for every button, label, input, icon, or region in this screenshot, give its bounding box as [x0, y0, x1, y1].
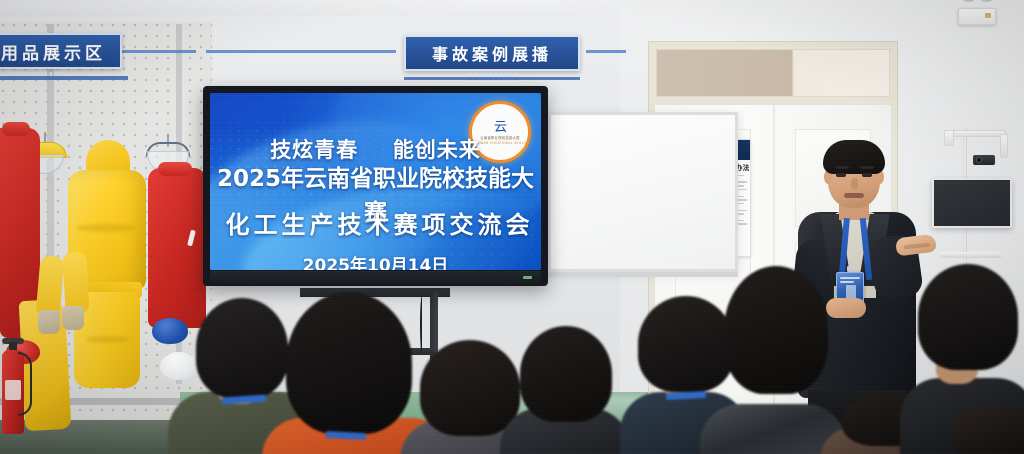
attendee-4-hair	[520, 326, 612, 422]
tv-power-cable	[420, 296, 424, 354]
presenter-nose	[851, 178, 858, 189]
attendee-6-hair	[724, 266, 828, 394]
sign-right-connector-l	[206, 50, 396, 53]
sign-left-connector	[110, 50, 196, 53]
sign-left-underline	[0, 76, 128, 80]
hazmat-boot-left	[38, 310, 60, 334]
hazmat-crease-2	[86, 336, 130, 343]
suit-collar	[2, 122, 30, 136]
slide-date: 2025年10月14日	[210, 251, 541, 270]
monitor-arm-lower	[1000, 134, 1008, 158]
presenter-hand-holding-badge	[826, 298, 866, 318]
attendee-1-hair	[196, 298, 288, 398]
wall-monitor[interactable]	[932, 178, 1012, 228]
emblem-glyph: 云	[494, 120, 506, 133]
presenter-eye-right	[862, 173, 872, 177]
display-bottom-bezel	[210, 271, 541, 284]
tv-cart-crossbar-top	[300, 288, 450, 297]
white-hard-hat	[160, 352, 198, 380]
sign-right-connector-r	[586, 50, 626, 53]
whiteboard-tray	[548, 272, 738, 277]
hazmat-crease	[76, 224, 138, 232]
sign-left-text: 护用品展示区	[0, 39, 106, 64]
slide-event-title: 化工生产技术赛项交流会	[210, 205, 541, 240]
display-power-led	[523, 276, 532, 279]
wall-camera	[973, 155, 995, 165]
emergency-exit-light	[958, 8, 996, 25]
monitor-shelf	[940, 252, 1002, 258]
fire-extinguisher	[0, 338, 26, 434]
sign-right-text: 事故案例展播	[432, 41, 552, 65]
display-screen: 云 云南省职业院校技能大赛 YUNNAN VOCATIONAL SKILLS 技…	[210, 93, 541, 270]
interactive-display-panel[interactable]: 云 云南省职业院校技能大赛 YUNNAN VOCATIONAL SKILLS 技…	[203, 86, 548, 286]
presenter-hair	[823, 140, 885, 174]
extinguisher-label	[5, 380, 21, 400]
blue-hard-hat	[152, 318, 188, 344]
sign-accident-case-broadcast: 事故案例展播	[404, 35, 580, 71]
photo-scene: 护用品展示区 事故案例展播 安全生产 事故 通报 现场处理办法	[0, 0, 1024, 454]
exit-light-indicator	[985, 13, 991, 18]
attendee-8-hair	[918, 264, 1018, 370]
monitor-arm-upper	[948, 130, 1006, 137]
sign-ppe-display-area: 护用品展示区	[0, 33, 122, 69]
attendee-5-hair	[638, 296, 734, 392]
monitor-arm-joint	[944, 130, 954, 146]
sign-right-underline	[404, 77, 580, 80]
presenter-eye-left	[836, 173, 846, 177]
presenter-brow-right	[860, 166, 874, 169]
hazmat-boot-right	[62, 306, 84, 330]
badge-line	[840, 281, 854, 283]
presenter-mouth	[844, 193, 864, 198]
attendee-2-hair	[286, 292, 412, 434]
suit-reflective-stripe	[187, 230, 196, 247]
door-transom-window	[656, 49, 890, 97]
attendee-3-hair	[420, 340, 520, 436]
presenter-brow-left	[835, 166, 849, 169]
badge-line	[840, 277, 860, 279]
red-protective-suit-right	[148, 168, 206, 328]
suit-collar	[158, 162, 192, 176]
whiteboard	[548, 112, 738, 272]
